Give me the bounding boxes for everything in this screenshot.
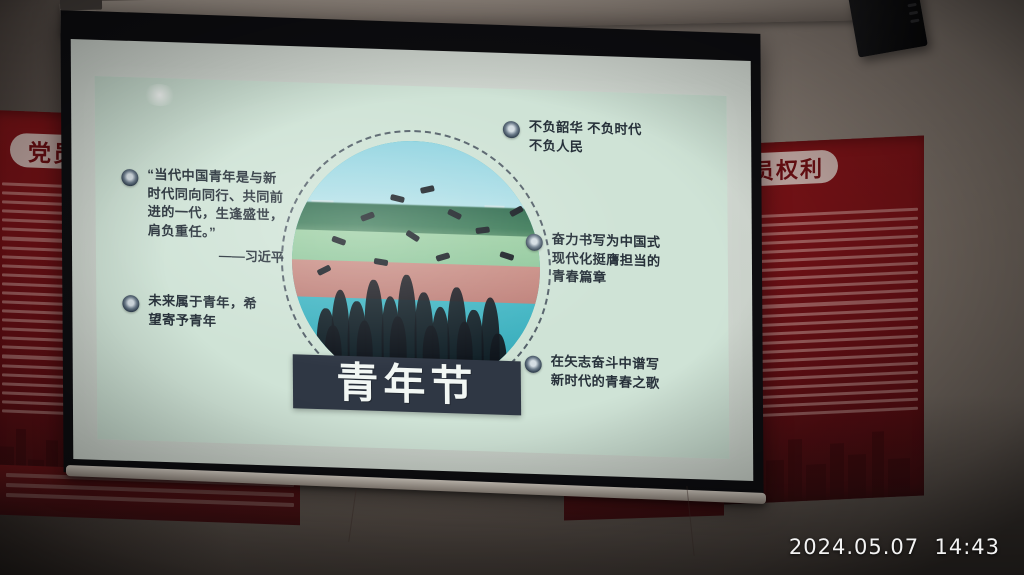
bullet-song-text: 在矢志奋斗中谱写 新时代的青春之歌 bbox=[551, 352, 660, 393]
bullet-quote-text: “当代中国青年是与新 时代同向同行、共同前 进的一代，生逢盛世， 肩负重任。” bbox=[147, 166, 283, 245]
bullet-chapter-text: 奋力书写为中国式 现代化挺膺担当的 青春篇章 bbox=[552, 230, 661, 290]
bullet-quote-attribution: ——习近平 bbox=[148, 243, 284, 266]
bullet-dot-icon bbox=[503, 121, 520, 139]
slide-title-text: 青年节 bbox=[336, 362, 477, 408]
bullet-live-up-to-the-times: 不负韶华 不负时代 不负人民 bbox=[503, 117, 693, 160]
wall-bracket bbox=[60, 0, 102, 10]
bullet-quote-body: “当代中国青年是与新 时代同向同行、共同前 进的一代，生逢盛世， 肩负重任。” … bbox=[147, 166, 284, 266]
bullet-write-youth-chapter: 奋力书写为中国式 现代化挺膺担当的 青春篇章 bbox=[526, 230, 706, 292]
projected-slide: 青年节 “当代中国青年是与新 时代同向同行、共同前 进的一代，生逢盛世， 肩负重… bbox=[95, 76, 730, 459]
slide-canvas: 青年节 “当代中国青年是与新 时代同向同行、共同前 进的一代，生逢盛世， 肩负重… bbox=[95, 76, 730, 459]
photo-scene: 党员 员权利 bbox=[0, 0, 1024, 575]
bullet-dot-icon bbox=[526, 234, 543, 252]
bullet-future-text: 未来属于青年，希 望寄予青年 bbox=[148, 292, 257, 333]
projector-hotspot bbox=[143, 84, 177, 107]
bullet-times-text: 不负韶华 不负时代 不负人民 bbox=[529, 118, 642, 159]
bullet-quote: “当代中国青年是与新 时代同向同行、共同前 进的一代，生逢盛世， 肩负重任。” … bbox=[121, 165, 292, 266]
slide-title-banner: 青年节 bbox=[293, 354, 521, 415]
bullet-dot-icon bbox=[525, 356, 542, 374]
bullet-dot-icon bbox=[121, 169, 138, 187]
camera-timestamp: 2024.05.07 14:43 bbox=[789, 535, 1000, 559]
bullet-song-of-new-era-youth: 在矢志奋斗中谱写 新时代的青春之歌 bbox=[525, 352, 705, 395]
bullet-future-belongs-to-youth: 未来属于青年，希 望寄予青年 bbox=[122, 291, 282, 334]
bullet-dot-icon bbox=[122, 295, 139, 313]
